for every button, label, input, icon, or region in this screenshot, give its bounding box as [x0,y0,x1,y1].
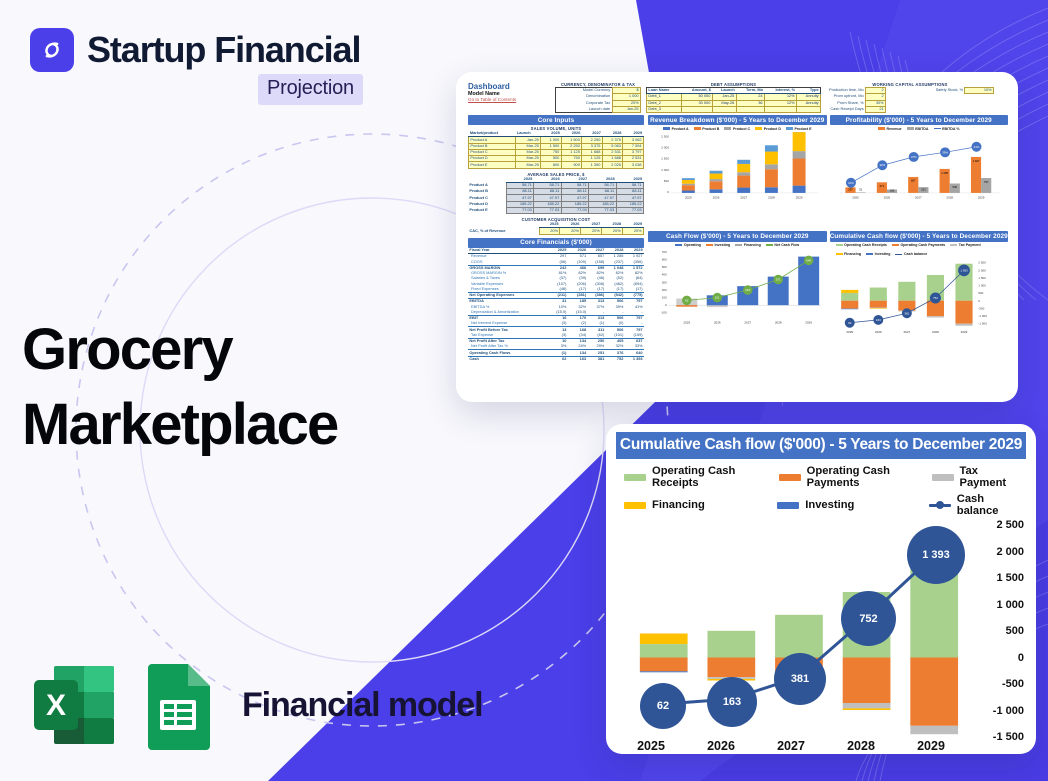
legend-item: Financing [836,252,862,256]
legend-label: Product E [795,127,812,131]
svg-text:2028: 2028 [775,320,782,324]
svg-text:62: 62 [685,298,689,302]
cash-balance-bubble-2027: 381 [774,653,826,705]
svg-text:218: 218 [745,288,750,292]
legend-label: Tax Payment [960,465,1019,489]
legend-label: Investing [714,243,730,247]
cash-balance-bubble-2025: 62 [640,683,686,729]
svg-text:313: 313 [921,188,926,192]
svg-text:101: 101 [715,295,720,299]
profitability-legend: Revenue EBITDA EBITDA % [830,125,1009,132]
infinity-logo-icon [37,35,67,65]
legend-label: Financing [744,243,761,247]
svg-text:2025: 2025 [685,196,692,200]
sv-cell[interactable]: Product E [469,162,516,168]
y-tick: 2 000 [996,546,1024,558]
svg-text:500: 500 [978,291,983,295]
chart-cumulative-cash-flow-mini: Cumulative Cash flow ($'000) - 5 Years t… [830,231,1009,361]
sv-cell[interactable]: 600 [541,162,562,168]
legend-item: Product A [663,127,689,131]
svg-text:2 500: 2 500 [661,135,669,139]
legend-item: Product B [694,127,720,131]
core-inputs-column: Core Inputs SALES VOLUME, UNITS Market/p… [468,115,644,362]
svg-text:2 500: 2 500 [978,260,986,264]
svg-text:2026: 2026 [713,196,720,200]
svg-text:371: 371 [776,277,781,281]
legend-item: Product D [755,127,781,131]
svg-text:297: 297 [848,188,853,192]
legend-swatch [932,474,954,481]
x-tick: 2026 [686,739,756,753]
y-tick: 1 500 [996,572,1024,584]
profitability-plot: 10% 32% 37% 39% 41% 297 31 571 185 [830,132,1009,204]
legend-label: Financing [844,252,861,256]
svg-text:-1 500: -1 500 [978,321,987,325]
cumulative-cash-flow-title: Cumulative Cash flow ($'000) - 5 Years t… [616,432,1026,459]
svg-text:2029: 2029 [977,196,984,200]
svg-text:2027: 2027 [740,196,747,200]
legend-swatch [779,474,801,481]
sv-cell[interactable]: 3 038 [623,162,644,168]
safety-stock-label: Safety Stock, % [889,88,965,94]
cac-cell[interactable]: 20% [581,228,602,234]
currency-assumptions-table: Model Currency $ Denomination 1 000 Corp… [555,87,641,113]
y-tick: 1 000 [996,599,1024,611]
y-axis-labels: 2 500 2 000 1 500 1 000 500 0 -500 -1 00… [966,525,1024,737]
brand-lockup: Startup Financial [30,28,360,72]
svg-text:1 500: 1 500 [978,276,986,280]
cf-cell: 163 [568,356,588,362]
svg-text:2026: 2026 [883,196,890,200]
legend-item: Financing [735,243,761,247]
legend-label: Investing [805,499,854,511]
legend-label: Revenue [887,127,902,131]
svg-text:700: 700 [662,249,667,253]
sv-cell[interactable]: 1 350 [582,162,603,168]
brand-logo-icon [30,28,74,72]
x-axis-labels: 2025 2026 2027 2028 2029 [616,739,966,753]
legend-label: Operating Cash Payments [807,465,932,489]
legend-label: Net Cash Flow [774,243,799,247]
table-row: Cash621633817521 393 [468,356,644,362]
ap-cell: 77.03 [506,207,533,213]
cac-cell[interactable]: 20% [539,228,560,234]
legend-line-marker [929,504,951,507]
cac-cell[interactable]: 20% [602,228,623,234]
brand-subtitle: Projection [258,74,363,105]
legend-item: Cash balance [895,252,927,256]
svg-text:X: X [46,689,66,722]
chart-cash-flow: Cash Flow ($'000) - 5 Years to December … [648,231,827,361]
debt-cell[interactable] [681,106,712,112]
x-tick: 2025 [616,739,686,753]
microsoft-excel-icon: X [30,660,120,750]
cash-balance-bubble-2029: 1 393 [907,526,965,584]
debt-cell[interactable]: Debt_3 [647,106,682,112]
sv-cell[interactable]: 2 025 [602,162,623,168]
debt-cell[interactable] [736,106,764,112]
profitability-title: Profitability ($'000) - 5 Years to Decem… [830,115,1009,125]
svg-text:2025: 2025 [852,196,859,200]
x-tick: 2029 [896,739,966,753]
svg-text:2027: 2027 [915,196,922,200]
y-tick: -1 000 [993,705,1024,717]
table-row[interactable]: Product E Mar-25 600 900 1 350 2 025 3 0… [469,162,644,168]
working-capital-block: WORKING CAPITAL ASSUMPTIONS Production t… [826,82,994,113]
legend-item: Product C [724,127,750,131]
cf-cell: 752 [606,356,625,362]
ap-row-label: Product E [468,207,506,213]
format-badges-label: Financial model [242,686,482,725]
ap-cell: 77.03 [616,207,643,213]
x-tick: 2028 [826,739,896,753]
svg-text:-100: -100 [661,310,667,314]
cumulative-cash-flow-plot: 62 163 381 752 1 393 2 500 2 000 1 500 1… [616,525,1026,737]
legend-item: Operating [675,243,701,247]
svg-text:640: 640 [806,258,811,262]
svg-text:2027: 2027 [744,320,751,324]
x-tick: 2027 [756,739,826,753]
legend-item: EBITDA % [934,127,960,131]
table-row: Launch date Jan-25 [556,106,641,112]
cf-row-label: Cash [468,356,548,362]
cash-flow-plot: 700 600 500 400 300 200 100 0 -100 [648,249,827,329]
svg-text:0: 0 [667,190,669,194]
y-tick: 0 [1018,652,1024,664]
dashboard-heading: Dashboard [468,82,550,91]
legend-item-operating-cash-receipts: Operating Cash Receipts [624,465,779,489]
svg-text:1 927: 1 927 [972,159,979,163]
wc-row-label: Cash Receipt Days [826,106,866,112]
core-inputs-band: Core Inputs [468,115,644,125]
svg-text:500: 500 [662,265,667,269]
y-tick: 2 500 [996,519,1024,531]
cf-cell: 381 [588,356,606,362]
legend-label: Cash balance [904,252,927,256]
legend-item: Product E [786,127,812,131]
legend-item: Revenue [878,127,902,131]
svg-text:2 000: 2 000 [661,146,669,150]
svg-text:100: 100 [662,295,667,299]
wc-row-value[interactable]: 21 [866,106,886,112]
legend-label: Product D [764,127,781,131]
y-tick: 500 [1006,625,1024,637]
safety-stock-value[interactable]: 10% [965,88,994,94]
working-capital-table: Production time, Mo 2 Prom upfront, Mo 2… [826,87,886,113]
legend-label: Product B [702,127,719,131]
svg-text:39%: 39% [942,151,948,155]
svg-text:10%: 10% [848,181,854,185]
legend-label: Operating [684,243,701,247]
launch-date-row-label: Launch date [556,106,613,112]
svg-text:571: 571 [879,184,884,188]
svg-text:41%: 41% [973,145,979,149]
svg-text:797: 797 [983,180,988,184]
svg-text:381: 381 [904,311,909,315]
svg-text:600: 600 [662,257,667,261]
poster-canvas: Startup Financial Projection Grocery Mar… [0,0,1048,781]
y-tick: -1 500 [993,731,1024,743]
svg-text:200: 200 [662,288,667,292]
currency-assumptions-block: CURRENCY, DENOMINATOR & TAX Model Curren… [555,82,641,113]
legend-item-cash-balance: Cash balance [929,493,1018,517]
legend-label: Product A [672,127,689,131]
svg-text:2029: 2029 [805,320,812,324]
svg-text:62: 62 [848,320,852,324]
dashboard-heading-block: Dashboard Model Name Go to Table of Cont… [468,82,550,102]
legend-item-financing: Financing [624,493,777,517]
table-row: Safety Stock, % 10% [889,88,993,94]
svg-text:2025: 2025 [683,320,690,324]
svg-text:-500: -500 [978,306,984,310]
debt-cell[interactable] [797,106,821,112]
svg-text:752: 752 [932,296,937,300]
format-badges: X Financial model [30,660,482,750]
legend-row: Operating Cash Receipts Operating Cash P… [624,465,1018,489]
cac-table: 2025 2026 2027 2028 2029 CAC, % of Reven… [468,222,644,235]
svg-text:163: 163 [875,318,880,322]
svg-text:1 500: 1 500 [661,157,669,161]
svg-text:0: 0 [978,298,980,302]
legend-swatch [624,502,646,509]
table-row[interactable]: CAC, % of Revenue 20% 20% 20% 20% 20% [468,228,644,234]
y-tick: -500 [1002,678,1024,690]
legend-label: Cash balance [957,493,1018,517]
legend-label: Financing [652,499,705,511]
launch-date-row-value[interactable]: Jan-25 [612,106,640,112]
svg-text:2028: 2028 [768,196,775,200]
legend-label: EBITDA [915,127,928,131]
legend-item: Operating Cash Payments [892,243,945,247]
svg-text:2029: 2029 [960,330,967,334]
svg-text:1 000: 1 000 [978,283,986,287]
svg-text:0: 0 [665,303,667,307]
page-title-line-2: Marketplace [22,387,337,462]
svg-text:1 393: 1 393 [960,268,968,272]
legend-item: Investing [706,243,730,247]
sales-volume-table: Market/product Launch 2025 2026 2027 202… [468,131,644,169]
svg-text:2028: 2028 [932,330,939,334]
svg-text:506: 506 [952,185,957,189]
svg-text:1 000: 1 000 [661,168,669,172]
legend-label: Operating Cash Payments [900,243,945,247]
chart-profitability: Profitability ($'000) - 5 Years to Decem… [830,115,1009,228]
cac-cell[interactable]: 20% [560,228,581,234]
cash-balance-bubble-2028: 752 [841,591,896,646]
core-financials-table: Fiscal Year 2025 2026 2027 2028 2029 Rev… [468,248,644,362]
legend-item: Operating Cash Receipts [836,243,887,247]
legend-item: EBITDA [907,127,929,131]
cumulative-cash-flow-mini-plot: 2 500 2 000 1 500 1 000 500 0 -500 -1 00… [830,258,1009,338]
svg-text:31: 31 [859,188,863,192]
legend-item: Investing [866,252,890,256]
debt-cell[interactable] [712,106,736,112]
svg-text:857: 857 [910,179,915,183]
cac-cell[interactable]: 20% [623,228,644,234]
cash-flow-legend: Operating Investing Financing Net Cash F… [648,242,827,249]
cumulative-cash-flow-mini-title: Cumulative Cash flow ($'000) - 5 Years t… [830,231,1009,241]
ap-cell: 77.03 [589,207,616,213]
svg-text:500: 500 [664,179,669,183]
revenue-breakdown-title: Revenue Breakdown ($'000) - 5 Years to D… [648,115,827,125]
svg-text:1 285: 1 285 [941,171,948,175]
currency-block-caption: CURRENCY, DENOMINATOR & TAX [555,82,641,87]
cash-flow-title: Cash Flow ($'000) - 5 Years to December … [648,231,827,241]
debt-cell[interactable] [764,106,796,112]
table-row: Cash Receipt Days 21 [826,106,886,112]
dashboard-screenshot-card: Dashboard Model Name Go to Table of Cont… [456,72,1018,402]
svg-text:400: 400 [662,272,667,276]
cash-balance-bubble-2026: 163 [707,677,757,727]
legend-swatch [624,474,646,481]
table-row: Product E 77.03 77.03 77.03 77.03 77.03 [468,207,644,213]
sv-cell[interactable]: Mar-25 [515,162,540,168]
svg-text:185: 185 [889,189,894,193]
legend-item-operating-cash-payments: Operating Cash Payments [779,465,932,489]
cumulative-cash-flow-mini-legend: Operating Cash Receipts Operating Cash P… [830,242,1009,258]
brand-subtitle-wrap: Projection [258,74,363,105]
cumulative-cash-flow-legend: Operating Cash Receipts Operating Cash P… [616,459,1026,523]
svg-text:2026: 2026 [874,330,881,334]
cf-cell: 62 [548,356,568,362]
chart-revenue-breakdown: Revenue Breakdown ($'000) - 5 Years to D… [648,115,827,228]
average-price-table: 2025 2026 2027 2028 2029 Product A 58.71… [468,177,644,215]
page-title-line-1: Grocery [22,312,337,387]
page-title: Grocery Marketplace [22,312,337,463]
cumulative-cash-flow-card: Cumulative Cash flow ($'000) - 5 Years t… [606,424,1036,754]
cf-cell: 1 393 [625,356,644,362]
svg-text:2026: 2026 [714,320,721,324]
revenue-breakdown-plot: 2 500 2 000 1 500 1 000 500 0 [648,132,827,204]
svg-text:2 000: 2 000 [978,268,986,272]
revenue-breakdown-legend: Product A Product B Product C Product D … [648,125,827,132]
table-row[interactable]: Debt_3 [647,106,821,112]
sv-cell[interactable]: 900 [561,162,582,168]
google-sheets-icon [142,660,214,750]
cac-row-label: CAC, % of Revenue [468,228,539,234]
legend-label: Tax Payment [959,243,981,247]
legend-label: Investing [875,252,891,256]
legend-item-investing: Investing [777,493,928,517]
legend-label: Operating Cash Receipts [844,243,887,247]
table-of-contents-link[interactable]: Go to Table of Contents [468,97,550,102]
excel-dashboard: Dashboard Model Name Go to Table of Cont… [462,78,1012,396]
svg-text:2028: 2028 [946,196,953,200]
ap-cell: 77.03 [534,207,561,213]
legend-row: Financing Investing Cash balance [624,493,1018,517]
debt-assumptions-block: DEBT ASSUMPTIONS Loan Name Amount, $ Lau… [646,82,821,113]
svg-text:37%: 37% [910,155,916,159]
brand-title: Startup Financial [87,32,360,68]
legend-item: Net Cash Flow [766,243,799,247]
debt-assumptions-table: Loan Name Amount, $ Launch Term, Mo Inte… [646,87,821,113]
legend-item: Tax Payment [950,243,981,247]
legend-label: Operating Cash Receipts [652,465,779,489]
legend-label: EBITDA % [942,127,959,131]
svg-text:300: 300 [662,280,667,284]
svg-text:-1 000: -1 000 [978,314,987,318]
svg-text:32%: 32% [879,163,885,167]
safety-stock-table: Safety Stock, % 10% [889,87,994,94]
legend-swatch [777,502,799,509]
legend-item-tax-payment: Tax Payment [932,465,1019,489]
svg-text:2025: 2025 [846,330,853,334]
svg-text:2029: 2029 [796,196,803,200]
ap-cell: 77.03 [561,207,588,213]
legend-label: Product C [733,127,750,131]
svg-text:2027: 2027 [903,330,910,334]
